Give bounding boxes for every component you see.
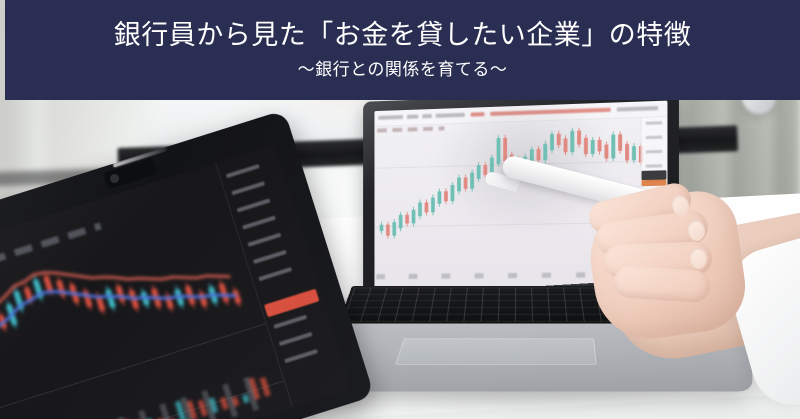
little-finger — [613, 265, 711, 304]
page-subtitle: 〜銀行との関係を育てる〜 — [298, 59, 508, 81]
laptop-trackpad[interactable] — [395, 338, 597, 365]
tablet-screen — [0, 144, 351, 419]
promo-banner-image: 銀行員から見た「お金を貸したい企業」の特徴 〜銀行との関係を育てる〜 — [0, 0, 800, 419]
page-title: 銀行員から見た「お金を貸したい企業」の特徴 — [114, 19, 692, 52]
title-banner: 銀行員から見た「お金を貸したい企業」の特徴 〜銀行との関係を育てる〜 — [5, 0, 800, 100]
